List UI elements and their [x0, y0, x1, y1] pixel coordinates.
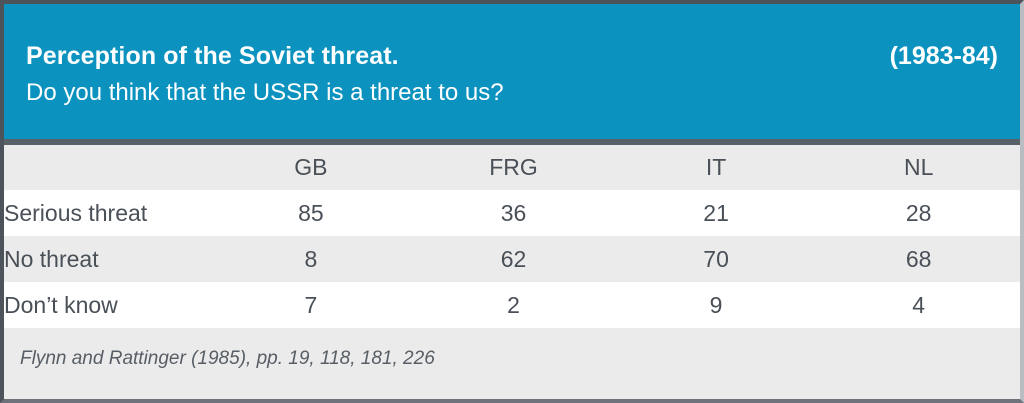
banner-top-row: Perception of the Soviet threat. (1983-8…	[26, 4, 998, 71]
cell-no-threat-it: 70	[615, 236, 818, 282]
source-note: Flynn and Rattinger (1985), pp. 19, 118,…	[4, 328, 1020, 391]
figure-title: Perception of the Soviet threat.	[26, 5, 399, 69]
cell-no-threat-nl: 68	[817, 236, 1020, 282]
cell-dont-know-frg: 2	[412, 282, 615, 328]
cell-dont-know-nl: 4	[817, 282, 1020, 328]
table-header-row: GB FRG IT NL	[4, 145, 1020, 190]
cell-dont-know-it: 9	[615, 282, 818, 328]
results-table: GB FRG IT NL Serious threat 85 36 21 28 …	[4, 145, 1020, 328]
cell-serious-threat-gb: 85	[210, 190, 413, 236]
row-label-dont-know: Don’t know	[4, 282, 210, 328]
column-header-nl: NL	[817, 145, 1020, 190]
table-row: No threat 8 62 70 68	[4, 236, 1020, 282]
column-header-gb: GB	[210, 145, 413, 190]
column-header-rowlabel	[4, 145, 210, 190]
cell-no-threat-frg: 62	[412, 236, 615, 282]
row-label-serious-threat: Serious threat	[4, 190, 210, 236]
cell-dont-know-gb: 7	[210, 282, 413, 328]
table-row: Don’t know 7 2 9 4	[4, 282, 1020, 328]
table-header: GB FRG IT NL	[4, 145, 1020, 190]
survey-result-table-figure: Perception of the Soviet threat. (1983-8…	[0, 0, 1024, 403]
figure-subtitle-question: Do you think that the USSR is a threat t…	[26, 71, 998, 106]
table-body: Serious threat 85 36 21 28 No threat 8 6…	[4, 190, 1020, 328]
row-label-no-threat: No threat	[4, 236, 210, 282]
source-note-text: Flynn and Rattinger (1985), pp. 19, 118,…	[20, 349, 435, 370]
column-header-it: IT	[615, 145, 818, 190]
cell-no-threat-gb: 8	[210, 236, 413, 282]
table-row: Serious threat 85 36 21 28	[4, 190, 1020, 236]
column-header-frg: FRG	[412, 145, 615, 190]
cell-serious-threat-it: 21	[615, 190, 818, 236]
figure-period-label: (1983-84)	[890, 4, 998, 71]
cell-serious-threat-frg: 36	[412, 190, 615, 236]
cell-serious-threat-nl: 28	[817, 190, 1020, 236]
figure-banner: Perception of the Soviet threat. (1983-8…	[4, 4, 1020, 145]
